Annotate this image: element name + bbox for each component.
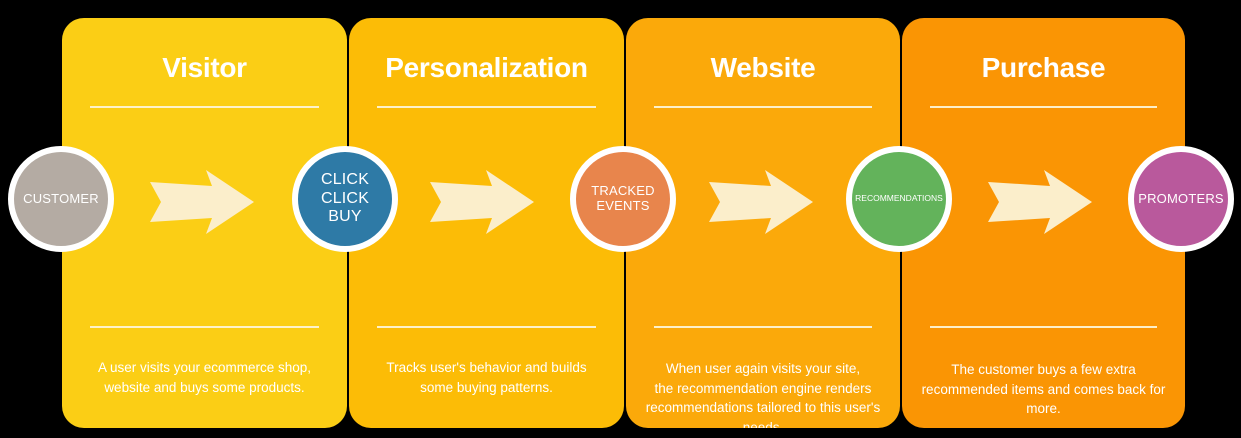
node-tracked-events: TRACKED EVENTS bbox=[570, 146, 676, 252]
panel-title: Website bbox=[626, 54, 900, 82]
node-customer: CUSTOMER bbox=[8, 146, 114, 252]
arrow-right-icon bbox=[709, 168, 813, 236]
node-label: PROMOTERS bbox=[1134, 192, 1228, 207]
node-label: CUSTOMER bbox=[14, 192, 108, 207]
divider-top bbox=[90, 106, 319, 108]
panel-description: The customer buys a few extra recommende… bbox=[916, 360, 1171, 419]
divider-bottom bbox=[377, 326, 596, 328]
divider-top bbox=[654, 106, 872, 108]
panel-title: Personalization bbox=[349, 54, 624, 82]
node-label: RECOMMENDATIONS bbox=[852, 194, 946, 204]
divider-bottom bbox=[930, 326, 1157, 328]
divider-bottom bbox=[654, 326, 872, 328]
node-label: TRACKED EVENTS bbox=[576, 184, 670, 214]
panel-description: A user visits your ecommerce shop, websi… bbox=[76, 358, 333, 397]
panel-title: Purchase bbox=[902, 54, 1185, 82]
node-label: CLICK CLICK BUY bbox=[298, 171, 392, 226]
arrow-right-icon bbox=[430, 168, 534, 236]
divider-bottom bbox=[90, 326, 319, 328]
divider-top bbox=[377, 106, 596, 108]
panel-description: Tracks user's behavior and builds some b… bbox=[363, 358, 610, 397]
node-click-click-buy: CLICK CLICK BUY bbox=[292, 146, 398, 252]
arrow-right-icon bbox=[988, 168, 1092, 236]
divider-top bbox=[930, 106, 1157, 108]
panel-title: Visitor bbox=[62, 54, 347, 82]
node-promoters: PROMOTERS bbox=[1128, 146, 1234, 252]
node-recommendations: RECOMMENDATIONS bbox=[846, 146, 952, 252]
panel-description: When user again visits your site, the re… bbox=[640, 359, 886, 428]
arrow-right-icon bbox=[150, 168, 254, 236]
infographic-canvas: Visitor A user visits your ecommerce sho… bbox=[0, 0, 1241, 438]
